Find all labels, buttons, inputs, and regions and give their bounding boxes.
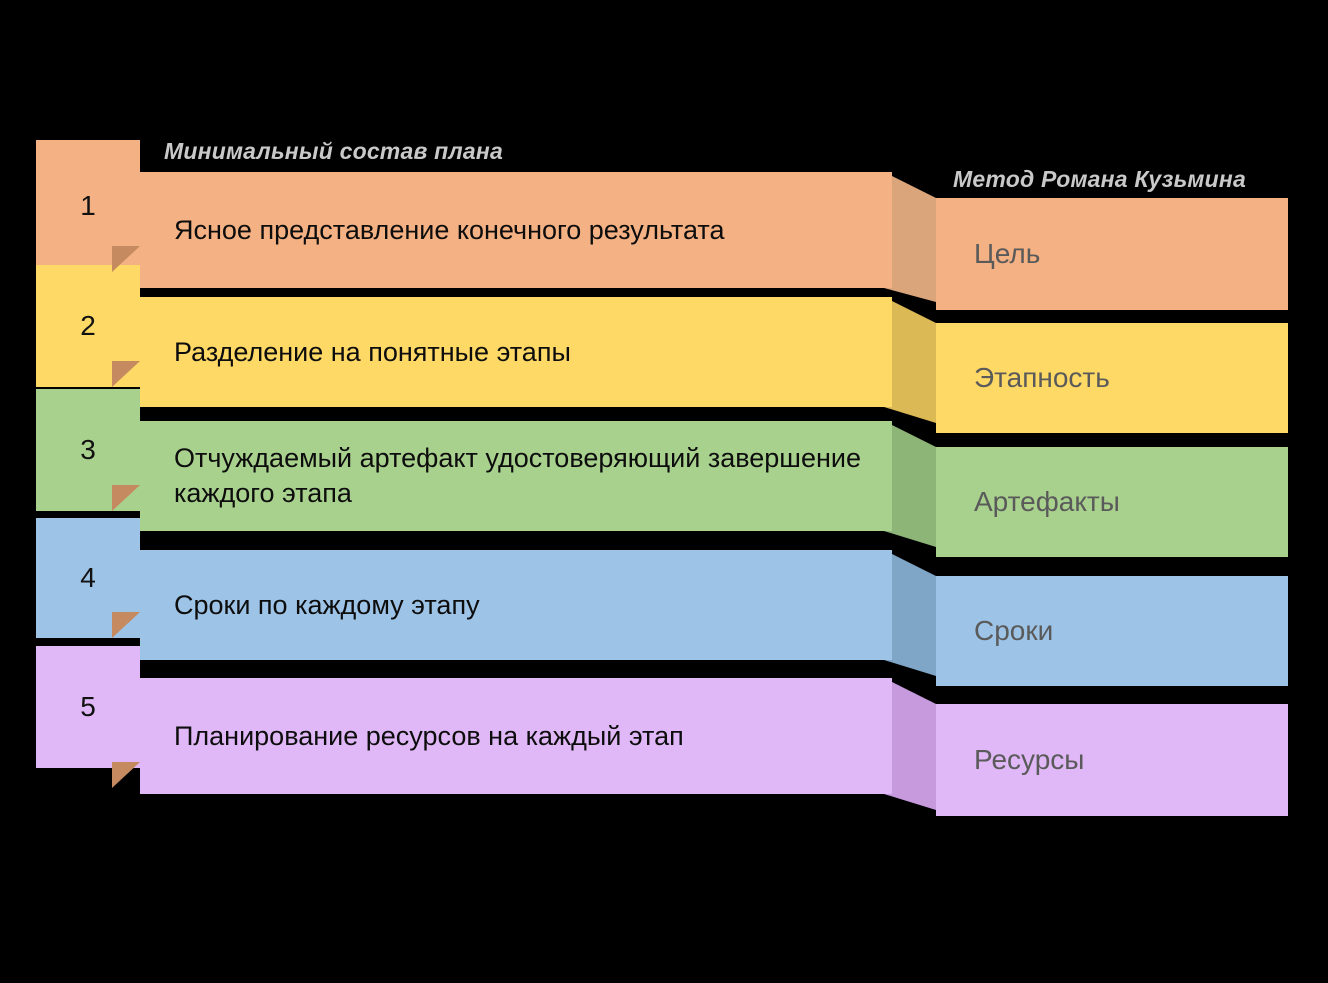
step-number-box[interactable]: 1 (36, 140, 140, 272)
row-connector (884, 172, 944, 302)
step-keyword-text: Артефакты (936, 486, 1120, 518)
step-number: 2 (80, 310, 96, 342)
step-description-bar[interactable]: Разделение на понятные этапы (140, 297, 892, 407)
row-connector (884, 421, 944, 547)
step-keyword-panel[interactable]: Ресурсы (936, 704, 1288, 816)
step-number: 4 (80, 562, 96, 594)
step-number-box[interactable]: 5 (36, 646, 140, 768)
step-description-text: Разделение на понятные этапы (140, 335, 587, 370)
step-keyword-panel[interactable]: Этапность (936, 323, 1288, 433)
step-number: 1 (80, 190, 96, 222)
row-connector (884, 550, 944, 676)
step-description-text: Планирование ресурсов на каждый этап (140, 719, 700, 754)
diagram-canvas: Минимальный состав плана Метод Романа Ку… (0, 0, 1328, 983)
step-description-bar[interactable]: Ясное представление конечного результата (140, 172, 892, 288)
step-keyword-panel[interactable]: Артефакты (936, 447, 1288, 557)
step-number-box[interactable]: 2 (36, 265, 140, 387)
step-number: 3 (80, 434, 96, 466)
left-column-header: Минимальный состав плана (164, 138, 503, 165)
step-keyword-text: Этапность (936, 362, 1110, 394)
row-connector (884, 678, 944, 810)
step-description-bar[interactable]: Сроки по каждому этапу (140, 550, 892, 660)
row-connector (884, 297, 944, 423)
step-description-bar[interactable]: Планирование ресурсов на каждый этап (140, 678, 892, 794)
step-keyword-text: Ресурсы (936, 744, 1084, 776)
step-description-text: Отчуждаемый артефакт удостоверяющий заве… (140, 441, 892, 510)
step-keyword-panel[interactable]: Цель (936, 198, 1288, 310)
step-keyword-panel[interactable]: Сроки (936, 576, 1288, 686)
step-keyword-text: Сроки (936, 615, 1053, 647)
step-description-bar[interactable]: Отчуждаемый артефакт удостоверяющий заве… (140, 421, 892, 531)
right-column-header: Метод Романа Кузьмина (953, 166, 1246, 193)
step-number: 5 (80, 691, 96, 723)
step-description-text: Сроки по каждому этапу (140, 588, 496, 623)
step-number-box[interactable]: 4 (36, 518, 140, 638)
step-number-box[interactable]: 3 (36, 389, 140, 511)
step-description-text: Ясное представление конечного результата (140, 213, 740, 248)
step-keyword-text: Цель (936, 238, 1040, 270)
